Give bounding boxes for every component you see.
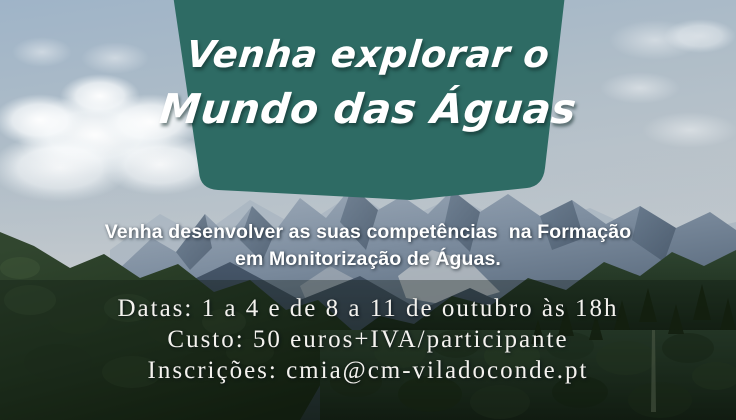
promotional-poster: Venha explorar o Mundo das Águas Venha d…	[0, 0, 736, 420]
headline-line-1: Venha explorar o	[0, 36, 736, 73]
headline-line-2: Mundo das Águas	[0, 89, 736, 130]
subtitle-line-1: Venha desenvolver as suas competências n…	[0, 219, 736, 246]
registration-line: Inscrições: cmia@cm-viladoconde.pt	[0, 358, 736, 383]
headline-block: Venha explorar o Mundo das Águas	[0, 36, 736, 130]
subtitle-line-2: em Monitorização de Águas.	[0, 246, 736, 273]
dates-line: Datas: 1 a 4 e de 8 a 11 de outubro às 1…	[0, 296, 736, 321]
details-block: Datas: 1 a 4 e de 8 a 11 de outubro às 1…	[0, 296, 736, 389]
cost-line: Custo: 50 euros+IVA/participante	[0, 327, 736, 352]
subtitle-block: Venha desenvolver as suas competências n…	[0, 219, 736, 273]
